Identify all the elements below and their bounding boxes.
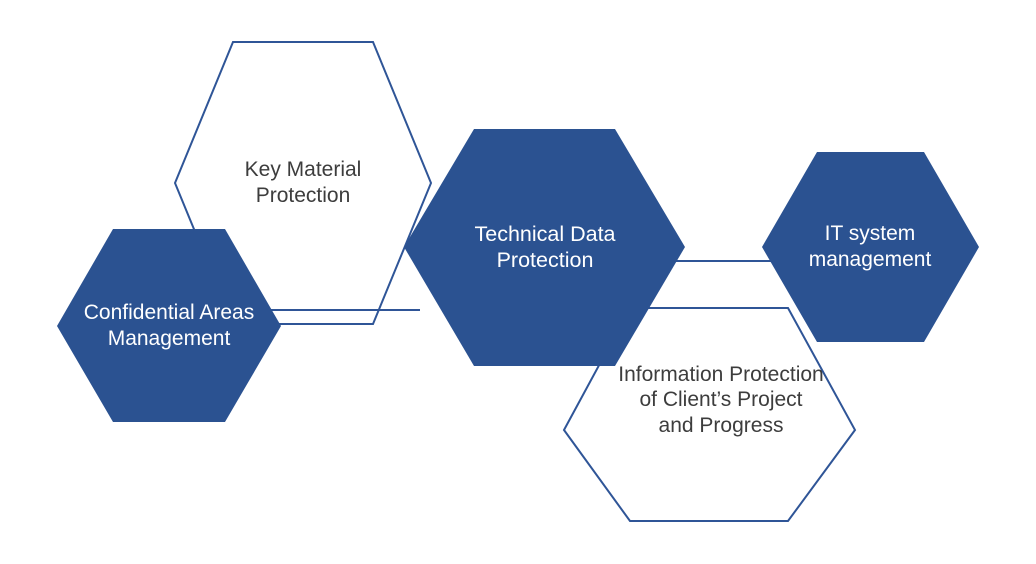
hexagon-shapes-layer [0,0,1036,564]
hexagon-it-system-management[interactable] [762,152,979,342]
diagram-canvas: Confidential Areas Management Key Materi… [0,0,1036,564]
